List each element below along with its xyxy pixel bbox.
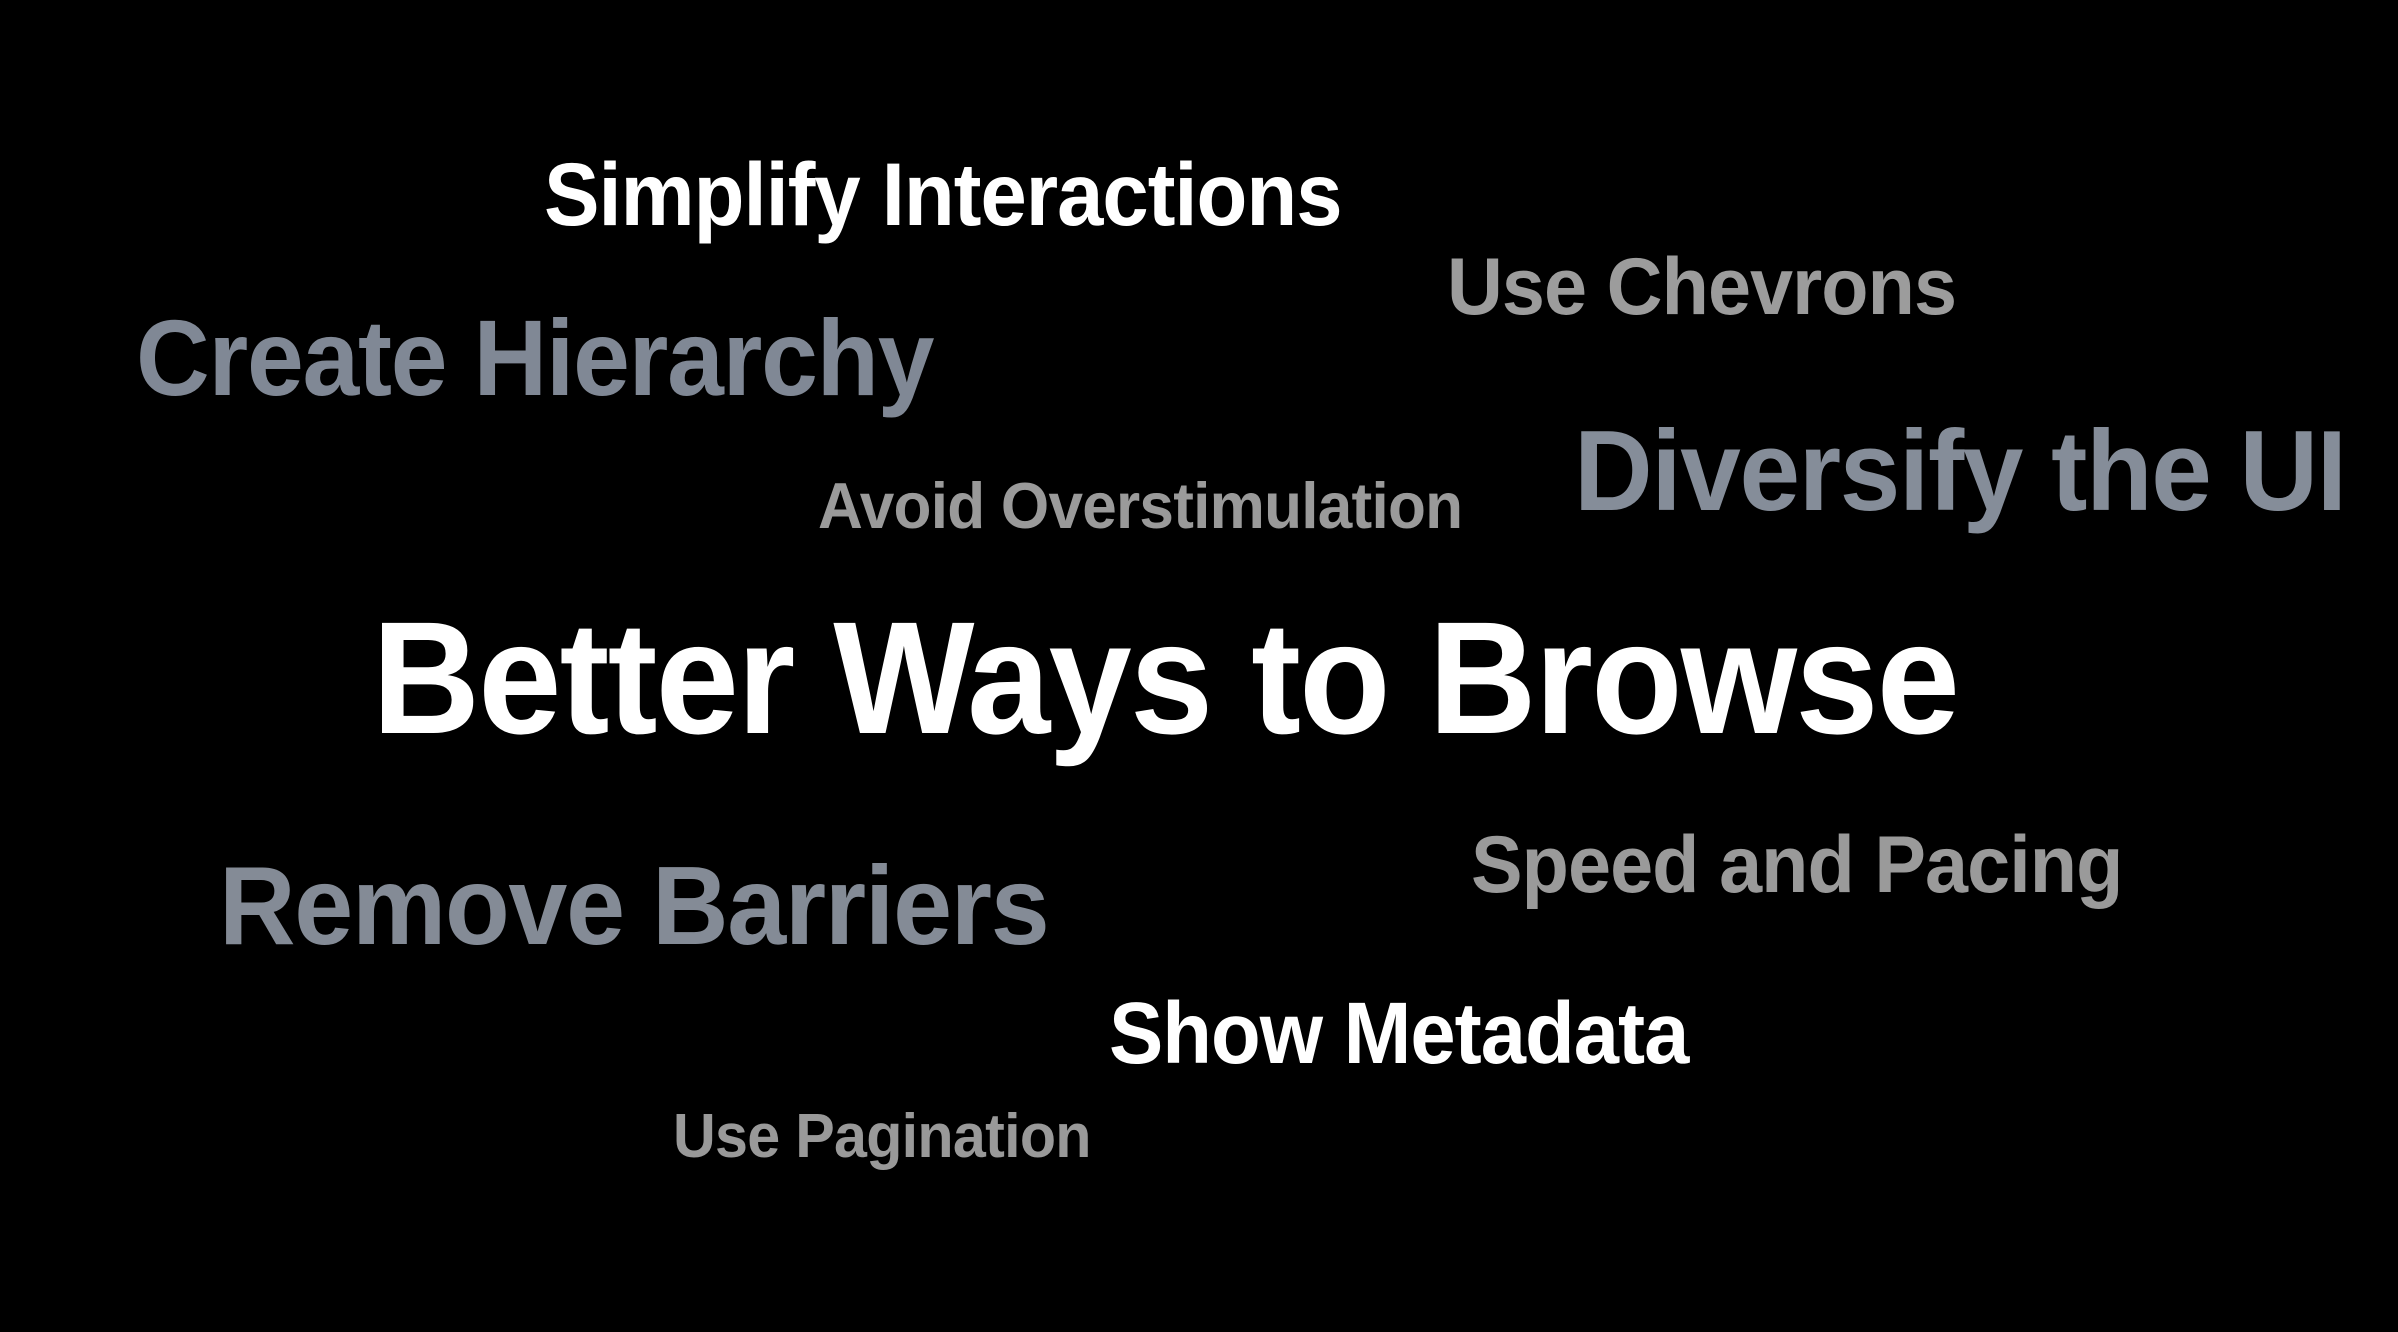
- cloud-word-simplify-interactions[interactable]: Simplify Interactions: [544, 150, 1341, 239]
- cloud-word-remove-barriers[interactable]: Remove Barriers: [219, 851, 1048, 962]
- cloud-word-speed-and-pacing[interactable]: Speed and Pacing: [1471, 825, 2122, 906]
- cloud-word-use-chevrons[interactable]: Use Chevrons: [1447, 247, 1956, 328]
- cloud-word-better-ways-to-browse[interactable]: Better Ways to Browse: [372, 598, 1958, 758]
- word-cloud-canvas: Simplify Interactions Create Hierarchy U…: [0, 0, 2398, 1332]
- cloud-word-avoid-overstimulation[interactable]: Avoid Overstimulation: [818, 473, 1462, 538]
- cloud-word-diversify-the-ui[interactable]: Diversify the UI: [1574, 415, 2346, 529]
- cloud-word-create-hierarchy[interactable]: Create Hierarchy: [136, 304, 933, 412]
- cloud-word-use-pagination[interactable]: Use Pagination: [673, 1106, 1091, 1168]
- cloud-word-show-metadata[interactable]: Show Metadata: [1109, 990, 1688, 1077]
